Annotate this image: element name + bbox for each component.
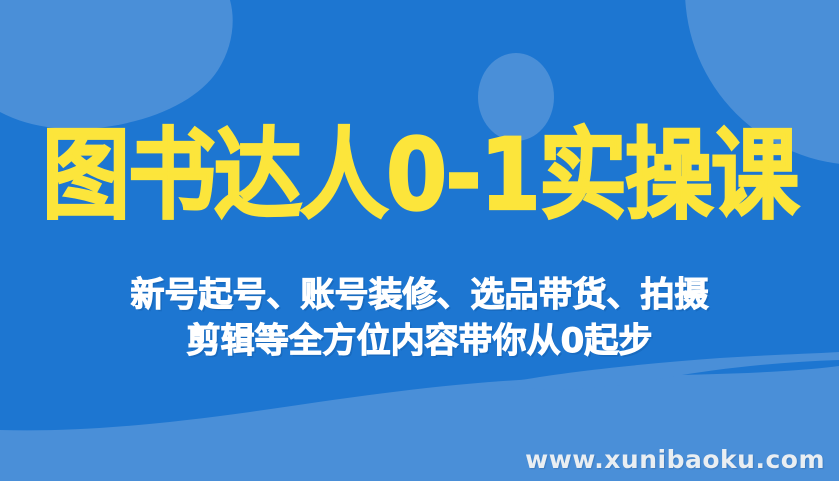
course-promo-banner: 图书达人0-1实操课 新号起号、账号装修、选品带货、拍摄 剪辑等全方位内容带你从… — [0, 0, 839, 481]
banner-subtitle-line-1: 新号起号、账号装修、选品带货、拍摄 — [0, 272, 839, 318]
decorative-background — [0, 0, 839, 481]
banner-title-container: 图书达人0-1实操课 — [0, 126, 839, 214]
site-watermark: www.xunibaoku.com — [525, 446, 825, 474]
banner-subtitle-container: 新号起号、账号装修、选品带货、拍摄 剪辑等全方位内容带你从0起步 — [0, 272, 839, 364]
banner-title: 图书达人0-1实操课 — [42, 126, 797, 225]
banner-subtitle-line-2: 剪辑等全方位内容带你从0起步 — [0, 318, 839, 364]
